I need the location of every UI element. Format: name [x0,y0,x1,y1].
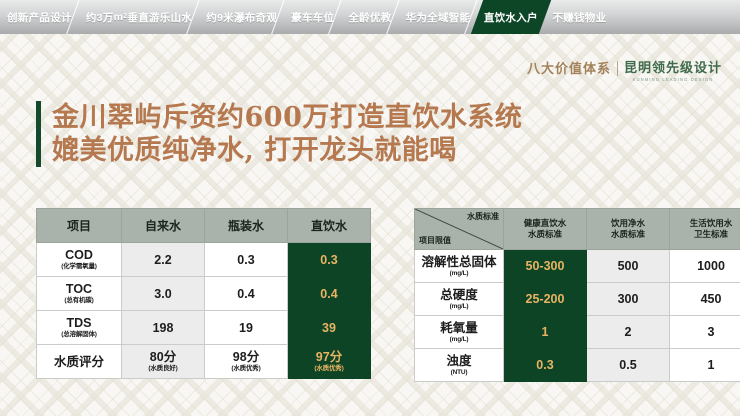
table-row: TOC (总有机碳) 3.0 0.4 0.4 [37,277,371,311]
cell-score-bottled: 98分 (水质优秀) [205,345,288,379]
row-label-unit: (mg/L) [415,335,503,344]
brand-tagline-cn: 昆明领先级设计 [624,60,722,76]
cell-tds-direct: 39 [288,311,371,345]
nav-tab-5[interactable]: 华为全域智能 [399,0,478,34]
row-label-main: 溶解性总固体 [415,255,503,269]
row-label-tds: TDS (总溶解固体) [37,311,122,345]
cell-toc-tap: 3.0 [122,277,205,311]
table-row: TDS (总溶解固体) 198 19 39 [37,311,371,345]
cell-hardness-domestic: 450 [670,283,740,316]
nav-tab-label: 约9米瀑布奇观 [206,10,277,25]
cell-value: 0.3 [504,358,586,372]
table-row: 总硬度 (mg/L) 25-200 300 450 [415,283,740,316]
table-row: 溶解性总固体 (mg/L) 50-300 500 1000 [415,250,740,283]
table-row: 耗氧量 (mg/L) 1 2 3 [415,316,740,349]
cell-value: 1 [670,358,740,372]
nav-tab-label: 华为全域智能 [406,10,471,25]
cell-subvalue: (水质优秀) [288,364,370,373]
col-header-line-1: 健康直饮水 [504,218,586,229]
nav-tab-label: 约3万 [86,10,114,25]
cell-oxygen-domestic: 3 [670,316,740,349]
cell-value: 0.4 [288,287,370,301]
col-header-line-1: 生活饮用水 [670,218,740,229]
cell-tds-tap: 198 [122,311,205,345]
cell-hardness-purified: 300 [587,283,670,316]
cell-toc-direct: 0.4 [288,277,371,311]
cell-turbidity-healthy: 0.3 [504,349,587,382]
row-label-unit: (NTU) [415,368,503,377]
nav-tab-3[interactable]: 豪车车位 [284,0,341,34]
nav-tab-0[interactable]: 创新产品设计 [0,0,79,34]
corner-header-cell: 水质标准 项目限值 [415,209,504,250]
col-header-direct-drinking-water: 直饮水 [288,209,371,243]
col-header-line-1: 饮用净水 [587,218,669,229]
cell-value: 19 [205,321,287,335]
row-label-main: COD [37,248,121,262]
col-header-line-2: 水质标准 [587,229,669,240]
nav-tab-6-active[interactable]: 直饮水入户 [471,0,551,34]
cell-value: 50-300 [504,259,586,273]
cell-value: 2.2 [122,253,204,267]
table-row: 水质评分 80分 (水质良好) 98分 (水质优秀) 97分 (水质优秀) [37,345,371,379]
row-label-main: TOC [37,282,121,296]
row-label-unit: (mg/L) [415,302,503,311]
water-comparison-table-wrap: 项目 自来水 瓶装水 直饮水 COD (化学需氧量) 2.2 0.3 0.3 [36,208,371,382]
cell-score-tap: 80分 (水质良好) [122,345,205,379]
cell-subvalue: (水质优秀) [205,364,287,373]
col-header-tap-water: 自来水 [122,209,205,243]
nav-tab-label: 豪车车位 [291,10,334,25]
cell-cod-tap: 2.2 [122,243,205,277]
cell-value: 300 [587,292,669,306]
row-label-main: TDS [37,316,121,330]
cell-value: 1000 [670,259,740,273]
brand-divider [617,61,618,76]
cell-value: 0.4 [205,287,287,301]
cell-value: 3.0 [122,287,204,301]
cell-score-direct: 97分 (水质优秀) [288,345,371,379]
brand-value-system-label: 八大价值体系 [527,60,611,77]
row-label-toc: TOC (总有机碳) [37,277,122,311]
col-header-line-2: 水质标准 [504,229,586,240]
row-label-sub: (总有机碳) [37,296,121,305]
headline-line-2: 媲美优质纯净水, 打开龙头就能喝 [52,134,522,167]
cell-value: 198 [122,321,204,335]
col-header-item: 项目 [37,209,122,243]
cell-value: 500 [587,259,669,273]
headline-text: 金川翠屿斥资约600万打造直饮水系统 媲美优质纯净水, 打开龙头就能喝 [52,101,522,167]
cell-tds-bottled: 19 [205,311,288,345]
cell-value: 3 [670,325,740,339]
headline-line-1: 金川翠屿斥资约600万打造直饮水系统 [52,101,522,134]
table-header-row: 项目 自来水 瓶装水 直饮水 [37,209,371,243]
headline-accent-bar [36,101,41,167]
cell-cod-direct: 0.3 [288,243,371,277]
cell-value: 98分 [205,350,287,364]
cell-value: 2 [587,325,669,339]
brand-mark: 八大价值体系 昆明领先级设计 KUNMING LEADING DESIGN [527,60,722,82]
cell-value: 0.3 [205,253,287,267]
col-header-domestic: 生活饮用水 卫生标准 [670,209,740,250]
cell-value: 450 [670,292,740,306]
corner-label-standard: 水质标准 [467,212,499,222]
cell-oxygen-healthy: 1 [504,316,587,349]
headline-block: 金川翠屿斥资约600万打造直饮水系统 媲美优质纯净水, 打开龙头就能喝 [36,101,522,167]
col-header-healthy-direct: 健康直饮水 水质标准 [504,209,587,250]
row-label-sub: (化学需氧量) [37,262,121,271]
cell-subvalue: (水质良好) [122,364,204,373]
water-comparison-table: 项目 自来水 瓶装水 直饮水 COD (化学需氧量) 2.2 0.3 0.3 [36,208,371,379]
row-label-oxygen-consumption: 耗氧量 (mg/L) [415,316,504,349]
tables-row: 项目 自来水 瓶装水 直饮水 COD (化学需氧量) 2.2 0.3 0.3 [0,208,740,382]
table-header-row: 水质标准 项目限值 健康直饮水 水质标准 饮用净水 水质标准 生活饮用水 卫生标… [415,209,740,250]
cell-dissolved-purified: 500 [587,250,670,283]
col-header-purified: 饮用净水 水质标准 [587,209,670,250]
nav-tab-label: 直饮水入户 [484,10,538,25]
cell-value: 25-200 [504,292,586,306]
row-label-water-score: 水质评分 [37,345,122,379]
row-label-unit: (mg/L) [415,269,503,278]
table-row: 浊度 (NTU) 0.3 0.5 1 [415,349,740,382]
cell-value: 0.5 [587,358,669,372]
table-row: COD (化学需氧量) 2.2 0.3 0.3 [37,243,371,277]
top-navigation: 创新产品设计 约3万m2垂直游乐山水 约9米瀑布奇观 豪车车位 全龄优教 华为全… [0,0,740,34]
water-standard-table: 水质标准 项目限值 健康直饮水 水质标准 饮用净水 水质标准 生活饮用水 卫生标… [414,208,740,382]
brand-tagline: 昆明领先级设计 KUNMING LEADING DESIGN [624,60,722,82]
nav-tab-1[interactable]: 约3万m2垂直游乐山水 [79,0,199,34]
row-label-main: 水质评分 [37,355,121,369]
corner-label-limit: 项目限值 [419,236,451,246]
nav-tab-label: 创新产品设计 [7,10,72,25]
row-label-main: 耗氧量 [415,321,503,335]
nav-tab-label: 不赚钱物业 [552,10,606,25]
cell-value: 0.3 [288,253,370,267]
cell-dissolved-healthy: 50-300 [504,250,587,283]
row-label-main: 总硬度 [415,288,503,302]
row-label-main: 浊度 [415,354,503,368]
cell-hardness-healthy: 25-200 [504,283,587,316]
col-header-line-2: 卫生标准 [670,229,740,240]
nav-tab-label-tail: 垂直游乐山水 [127,10,192,25]
cell-value: 1 [504,325,586,339]
nav-unit-label: m [114,11,124,23]
water-standard-table-wrap: 水质标准 项目限值 健康直饮水 水质标准 饮用净水 水质标准 生活饮用水 卫生标… [414,208,740,382]
nav-tab-label: 全龄优教 [348,10,391,25]
cell-turbidity-domestic: 1 [670,349,740,382]
row-label-sub: (总溶解固体) [37,330,121,339]
row-label-turbidity: 浊度 (NTU) [415,349,504,382]
row-label-hardness: 总硬度 (mg/L) [415,283,504,316]
cell-oxygen-purified: 2 [587,316,670,349]
cell-turbidity-purified: 0.5 [587,349,670,382]
cell-toc-bottled: 0.4 [205,277,288,311]
nav-tab-2[interactable]: 约9米瀑布奇观 [199,0,284,34]
nav-tab-7[interactable]: 不赚钱物业 [545,0,613,34]
nav-tab-4[interactable]: 全龄优教 [341,0,398,34]
cell-value: 39 [288,321,370,335]
col-header-bottled-water: 瓶装水 [205,209,288,243]
row-label-tds-dissolved: 溶解性总固体 (mg/L) [415,250,504,283]
cell-cod-bottled: 0.3 [205,243,288,277]
row-label-cod: COD (化学需氧量) [37,243,122,277]
cell-value: 97分 [288,350,370,364]
brand-tagline-en: KUNMING LEADING DESIGN [633,77,714,82]
cell-dissolved-domestic: 1000 [670,250,740,283]
cell-value: 80分 [122,350,204,364]
